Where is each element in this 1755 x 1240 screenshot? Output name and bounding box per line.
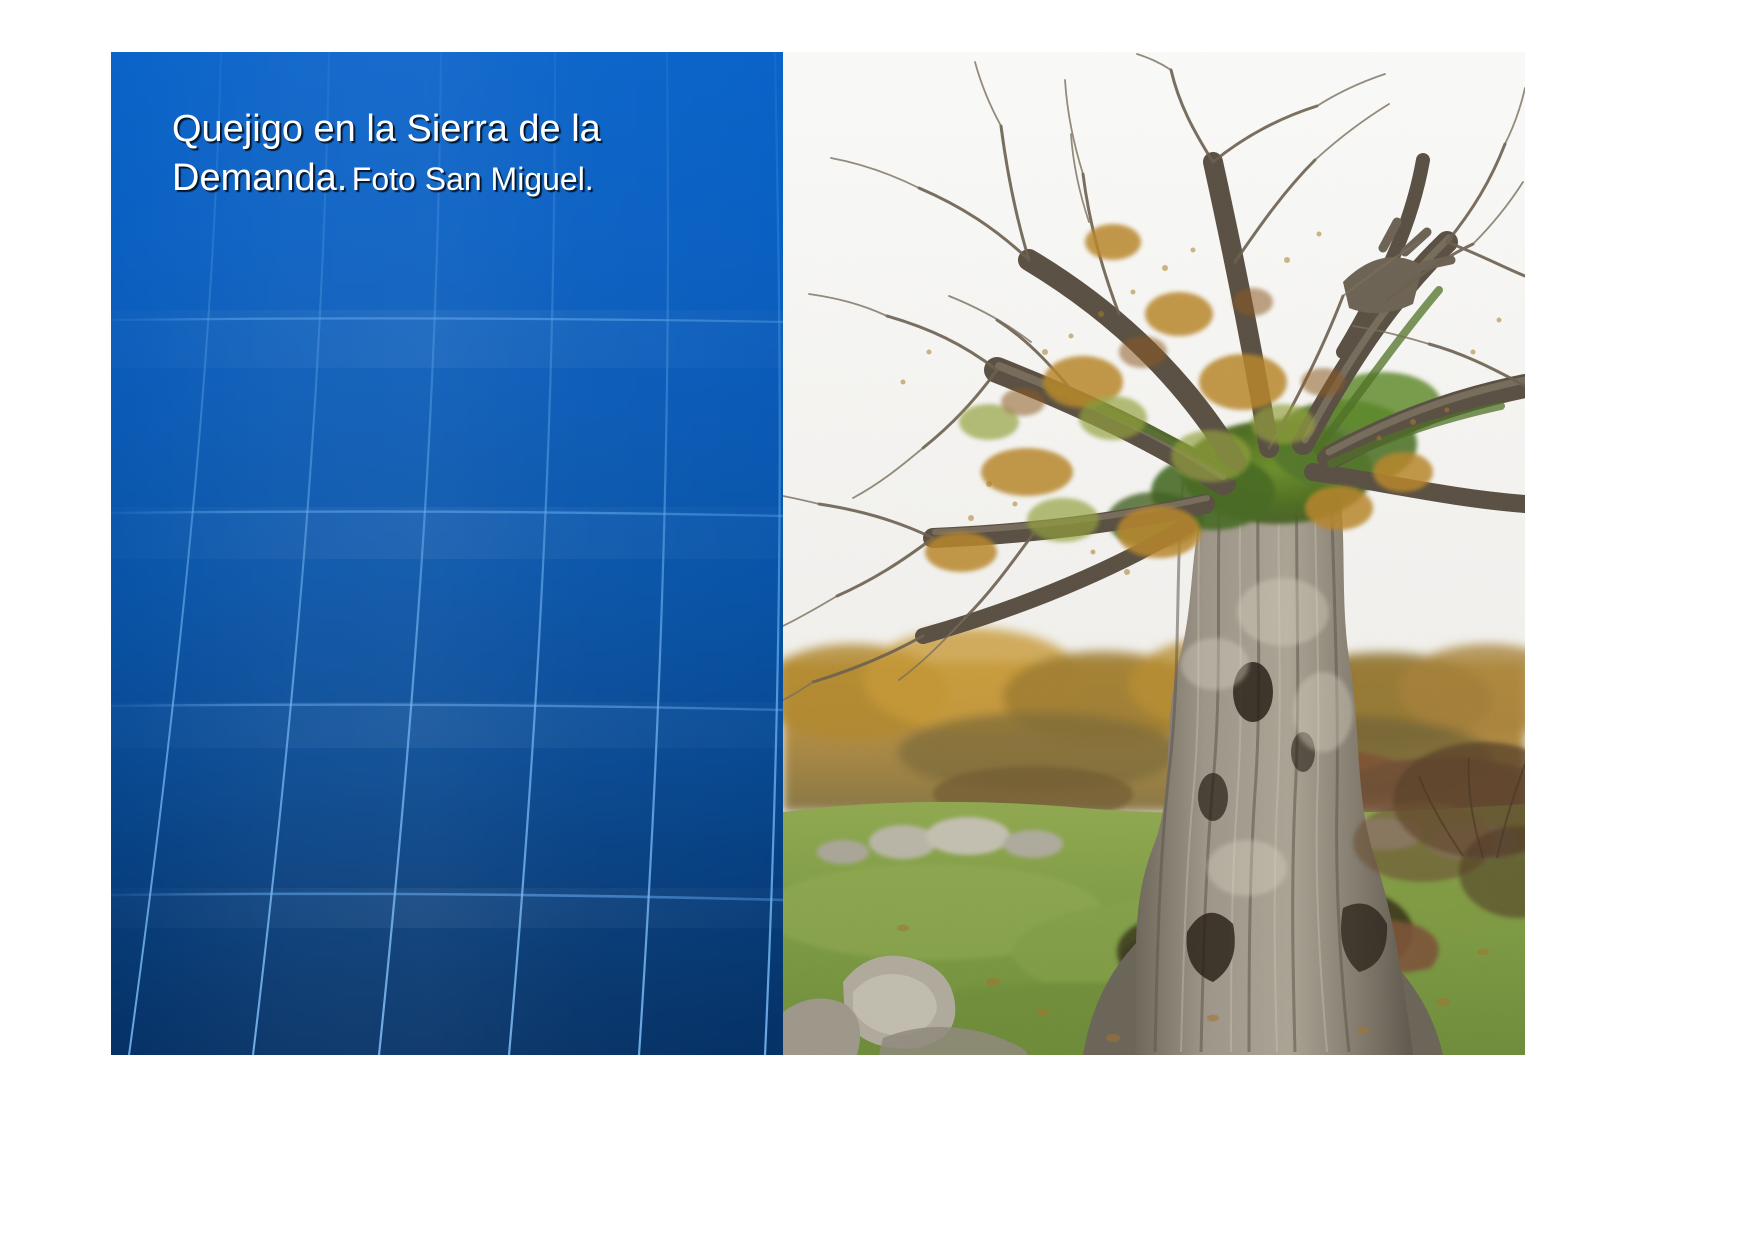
title-line-2: Demanda. xyxy=(172,157,347,199)
title-panel: Quejigo en la Sierra de la Demanda. Foto… xyxy=(111,52,784,1055)
photo-credit: Foto San Miguel. xyxy=(352,161,594,197)
title-line-1: Quejigo en la Sierra de la xyxy=(172,108,601,150)
tree-photograph xyxy=(783,52,1525,1055)
tree-photo-illustration xyxy=(783,52,1525,1055)
slide-canvas: Quejigo en la Sierra de la Demanda. Foto… xyxy=(0,0,1755,1240)
slide-title: Quejigo en la Sierra de la Demanda. Foto… xyxy=(172,105,752,204)
